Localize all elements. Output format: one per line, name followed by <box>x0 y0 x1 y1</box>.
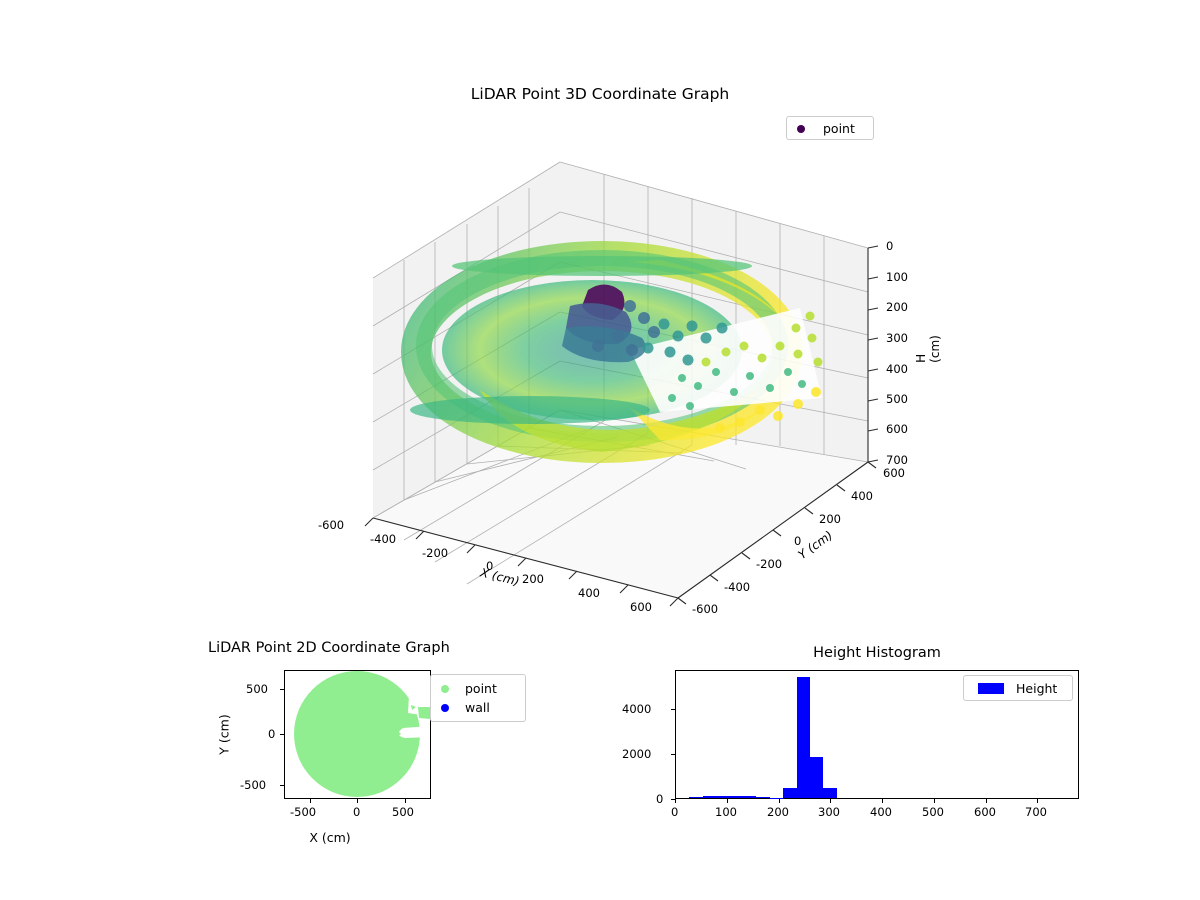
point-marker-icon <box>797 125 805 133</box>
y-tick-label: -200 <box>756 557 782 571</box>
legend-label-height: Height <box>1016 681 1057 696</box>
scatter2d-x-tick-label: 0 <box>353 805 360 819</box>
legend-label-point: point <box>823 121 855 136</box>
hist-x-tickmark <box>986 799 987 803</box>
scatter2d-x-axis-label: X (cm) <box>309 830 350 845</box>
histogram-legend: Height <box>963 675 1073 701</box>
hist-x-tick-label: 400 <box>870 805 892 819</box>
wall-marker-icon <box>441 704 449 712</box>
height-patch-icon <box>978 683 1004 694</box>
scatter2d-y-tick-label: 500 <box>246 682 268 696</box>
hist-y-tickmark <box>671 799 675 800</box>
x-tick-label: -400 <box>370 532 396 546</box>
hist-x-tick-label: 200 <box>767 805 789 819</box>
scatter2d-canvas <box>285 671 430 798</box>
z-tick-label: 500 <box>886 392 908 406</box>
z-tick-label: 300 <box>886 331 908 345</box>
legend-item-height: Height <box>972 680 1064 697</box>
histogram-bar <box>810 757 823 798</box>
scatter2d-axes[interactable] <box>284 670 431 799</box>
legend-label-wall: wall <box>465 700 490 715</box>
x-tick-label: 600 <box>630 600 652 614</box>
hist-y-tick-label: 4000 <box>622 702 651 716</box>
histogram-bar <box>783 788 796 798</box>
histogram-bar <box>797 677 810 798</box>
x-tick-label: -200 <box>422 546 448 560</box>
y-tick-label: 600 <box>883 466 905 480</box>
z-axis-label: H (cm) <box>914 335 942 363</box>
legend-item-point: point <box>795 121 865 136</box>
scatter2d-x-tick-label: 500 <box>392 805 414 819</box>
hist-x-tickmark <box>727 799 728 803</box>
y-tick-label: -400 <box>724 580 750 594</box>
histogram-bar <box>743 796 756 798</box>
histogram-bar <box>756 797 769 798</box>
histogram-title: Height Histogram <box>813 645 941 661</box>
z-tick-label: 0 <box>886 239 893 253</box>
z-tick-label: 700 <box>886 453 908 467</box>
z-tick-label: 200 <box>886 300 908 314</box>
x-tickmark <box>357 799 358 803</box>
hist-x-tick-label: 300 <box>818 805 840 819</box>
hist-x-tickmark <box>830 799 831 803</box>
scatter2d-y-tick-label: -500 <box>240 778 266 792</box>
legend-item-point: point <box>439 679 517 698</box>
z-tick-label: 400 <box>886 362 908 376</box>
scatter3d-title: LiDAR Point 3D Coordinate Graph <box>471 85 729 103</box>
scatter3d-axes[interactable]: -600 -400 -200 0 200 400 600 -600 -400 -… <box>330 140 890 620</box>
scatter2d-legend: point wall <box>430 674 526 722</box>
scatter2d-title: LiDAR Point 2D Coordinate Graph <box>208 640 450 656</box>
histogram-bar <box>730 796 743 798</box>
histogram-bar <box>823 788 836 798</box>
hist-y-tickmark <box>671 754 675 755</box>
hist-y-tick-label: 0 <box>656 792 663 806</box>
x-tick-label: -600 <box>318 518 344 532</box>
hist-x-tickmark <box>1037 799 1038 803</box>
hist-y-tick-label: 2000 <box>622 747 651 761</box>
x-tickmark <box>310 799 311 803</box>
hist-y-tickmark <box>671 709 675 710</box>
scatter2d-x-tick-label: -500 <box>290 805 316 819</box>
hist-x-tickmark <box>675 799 676 803</box>
y-tick-label: -600 <box>692 602 718 616</box>
hist-x-tick-label: 100 <box>715 805 737 819</box>
y-tickmark <box>280 734 284 735</box>
point-marker-icon <box>441 685 449 693</box>
histogram-bar <box>716 796 729 798</box>
y-tick-label: 400 <box>851 489 873 503</box>
matplotlib-figure: LiDAR Point 3D Coordinate Graph point <box>0 0 1200 900</box>
hist-x-tick-label: 500 <box>922 805 944 819</box>
x-tick-label: 400 <box>578 586 600 600</box>
x-tickmark <box>405 799 406 803</box>
scatter2d-y-tick-label: 0 <box>268 727 275 741</box>
z-ticks <box>868 246 878 462</box>
histogram-bar <box>703 796 716 798</box>
y-tickmark <box>280 785 284 786</box>
y-tick-label: 200 <box>819 512 841 526</box>
scatter2d-y-axis-label: Y (cm) <box>217 714 232 754</box>
hist-x-tick-label: 600 <box>974 805 996 819</box>
legend-item-wall: wall <box>439 698 517 717</box>
legend-label-point: point <box>465 681 497 696</box>
y-tickmark <box>280 689 284 690</box>
histogram-bar <box>689 797 702 798</box>
hist-x-tickmark <box>882 799 883 803</box>
hist-x-tick-label: 0 <box>671 805 678 819</box>
scatter3d-legend: point <box>786 116 874 140</box>
z-tick-label: 600 <box>886 422 908 436</box>
hist-x-tick-label: 700 <box>1025 805 1047 819</box>
hist-x-tickmark <box>779 799 780 803</box>
point-disk <box>294 671 430 797</box>
x-tick-label: 200 <box>522 572 544 586</box>
hist-x-tickmark <box>934 799 935 803</box>
z-tick-label: 100 <box>886 270 908 284</box>
